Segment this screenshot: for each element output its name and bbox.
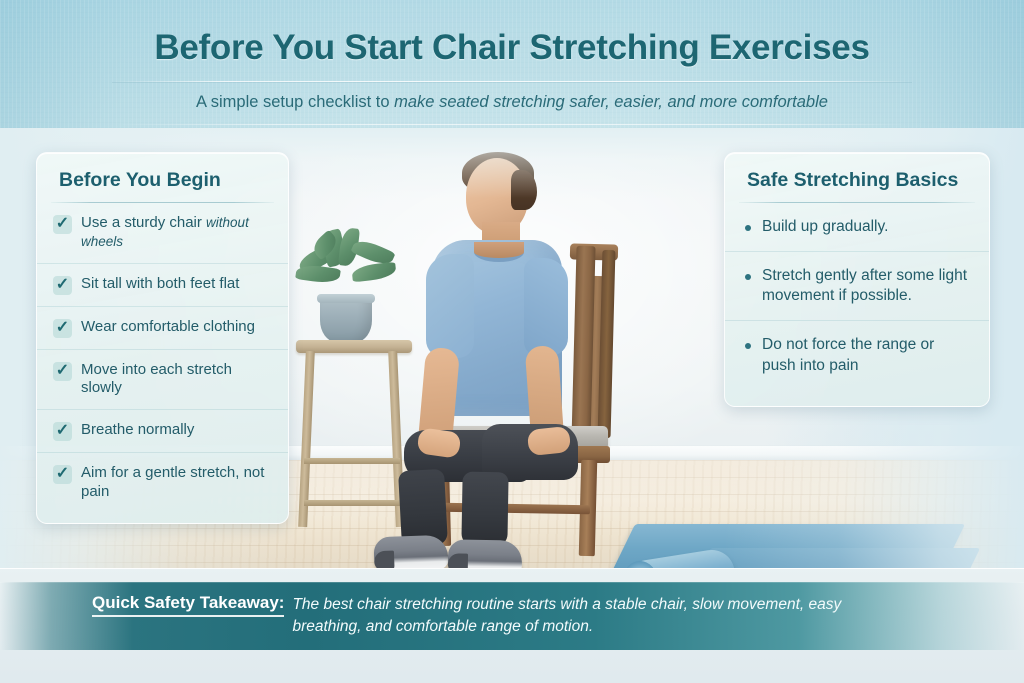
check-icon: ✓ [53,319,72,338]
person-shin-right [461,472,508,547]
check-icon: ✓ [53,276,72,295]
list-item-label: Sit tall with both feet flat [81,275,239,294]
check-icon: ✓ [53,465,72,484]
list-item-label: Wear comfortable clothing [81,318,255,337]
subtitle-lead: A simple setup checklist to [196,93,394,111]
footer-hairline [0,568,1024,569]
list-item[interactable]: ✓ Wear comfortable clothing [37,307,288,350]
person-sleeve-right [524,258,568,356]
footer-zone: Quick Safety Takeaway: The best chair st… [0,568,1024,683]
banner-label: Quick Safety Takeaway: [92,593,284,617]
list-item[interactable]: Do not force the range or push into pain [725,321,989,389]
bullet-icon [745,343,751,349]
right-panel-title: Safe Stretching Basics [725,167,989,202]
list-item-label: Move into each stretch slowly [81,361,274,399]
safe-stretching-basics-panel: Safe Stretching Basics Build up graduall… [724,152,990,407]
list-item[interactable]: ✓ Aim for a gentle stretch, not pain [37,453,288,513]
banner-text: The best chair stretching routine starts… [292,593,904,639]
list-item[interactable]: ✓ Breathe normally [37,410,288,453]
plant-pot [320,294,372,342]
list-item[interactable]: Build up gradually. [725,203,989,252]
quick-safety-takeaway-banner: Quick Safety Takeaway: The best chair st… [0,582,1024,650]
list-item-label: Use a sturdy chair without wheels [81,214,274,252]
subtitle-emphasis: make seated stretching safer, easier, an… [394,93,828,111]
list-item[interactable]: ✓ Sit tall with both feet flat [37,264,288,307]
list-item-label: Breathe normally [81,421,194,440]
list-item-label: Stretch gently after some light movement… [762,266,971,306]
header-divider-top [112,81,912,82]
header: Before You Start Chair Stretching Exerci… [0,0,1024,130]
before-you-begin-panel: Before You Begin ✓ Use a sturdy chair wi… [36,152,289,524]
person-sleeve-left [426,254,474,358]
left-panel-title: Before You Begin [37,167,288,202]
seated-person [378,158,608,548]
basics-list: Build up gradually. Stretch gently after… [725,203,989,390]
list-item-label: Do not force the range or push into pain [762,335,971,375]
infographic-root: Before You Start Chair Stretching Exerci… [0,0,1024,683]
bullet-icon [745,225,751,231]
person-collar [474,242,524,262]
checklist: ✓ Use a sturdy chair without wheels ✓ Si… [37,203,288,513]
check-icon: ✓ [53,422,72,441]
list-item[interactable]: ✓ Move into each stretch slowly [37,350,288,411]
list-item[interactable]: ✓ Use a sturdy chair without wheels [37,203,288,264]
list-item-label: Build up gradually. [762,217,888,237]
page-subtitle: A simple setup checklist to make seated … [0,93,1024,112]
check-icon: ✓ [53,362,72,381]
header-divider-bottom [117,124,907,125]
bullet-icon [745,274,751,280]
check-icon: ✓ [53,215,72,234]
list-item[interactable]: Stretch gently after some light movement… [725,252,989,321]
person-shoe-left [373,535,448,572]
person-hair-back [511,170,537,210]
page-title: Before You Start Chair Stretching Exerci… [0,28,1024,68]
list-item-label: Aim for a gentle stretch, not pain [81,464,274,502]
banner-content: Quick Safety Takeaway: The best chair st… [92,593,904,639]
